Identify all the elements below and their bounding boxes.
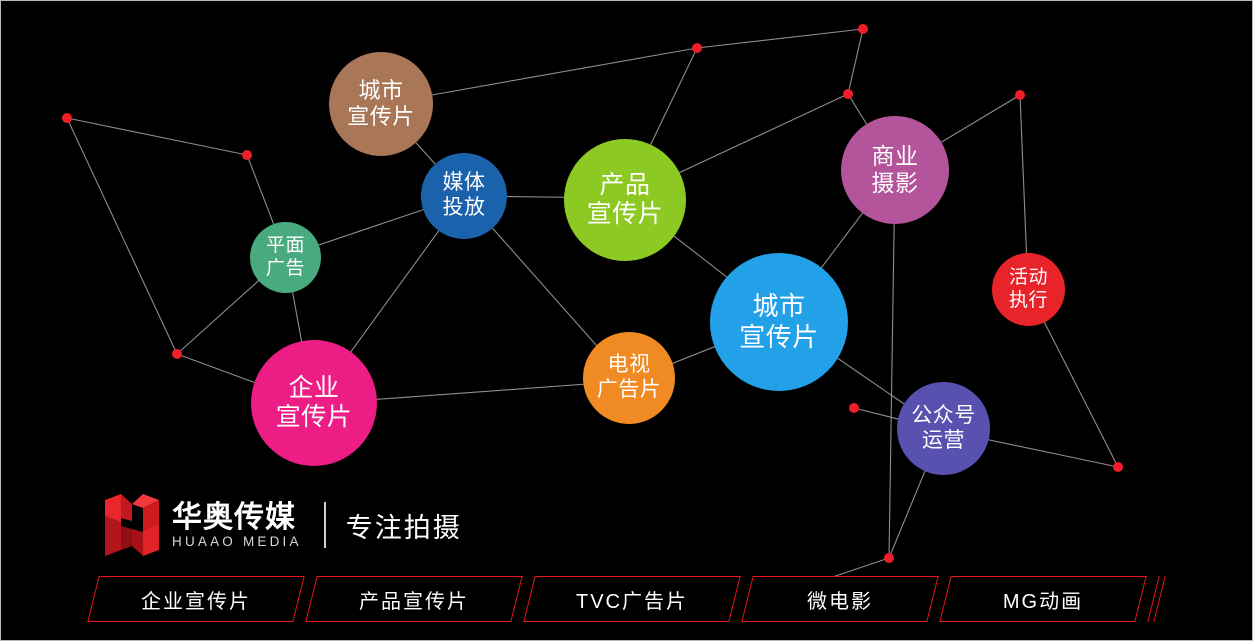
bubble-commercial-photo[interactable]: 商业摄影 xyxy=(841,116,949,224)
bubble-label-line: 宣传片 xyxy=(739,322,819,353)
tab-tvc[interactable]: TVC广告片 xyxy=(529,576,735,622)
bubble-label-line: 活动 xyxy=(1009,267,1048,289)
tab-label: 企业宣传片 xyxy=(115,585,277,614)
category-tab-strip: 企业宣传片产品宣传片TVC广告片微电影MG动画 xyxy=(1,569,1253,629)
brand-tagline: 专注拍摄 xyxy=(346,506,462,545)
bubble-label-line: 执行 xyxy=(1009,290,1048,312)
bubble-label-line: 广告 xyxy=(266,258,305,280)
node-upper-mid xyxy=(242,150,252,160)
bubble-label-line: 电视 xyxy=(608,353,651,378)
brand-name-en: HUAAO MEDIA xyxy=(172,535,302,549)
tab-label: TVC广告片 xyxy=(550,585,714,614)
bubble-label-line: 媒体 xyxy=(443,171,486,196)
tab-product-film[interactable]: 产品宣传片 xyxy=(311,576,517,622)
huaao-h-monogram-icon xyxy=(105,494,159,556)
bubble-label-line: 运营 xyxy=(922,429,965,454)
bubble-media-placement[interactable]: 媒体投放 xyxy=(421,153,507,239)
bubble-print-ad[interactable]: 平面广告 xyxy=(250,222,321,293)
bubble-label-line: 公众号 xyxy=(911,404,976,429)
node-top-right xyxy=(858,24,868,34)
bubble-tv-commercial[interactable]: 电视广告片 xyxy=(583,332,675,424)
bubble-label-line: 广告片 xyxy=(597,378,662,403)
slide-canvas: 城市宣传片媒体投放平面广告产品宣传片商业摄影活动执行城市宣传片电视广告片企业宣传… xyxy=(0,0,1253,641)
network-edge xyxy=(889,170,895,558)
bubble-city-film-blue[interactable]: 城市宣传片 xyxy=(710,253,848,391)
bubble-label-line: 宣传片 xyxy=(587,200,664,230)
network-edge xyxy=(67,118,247,155)
network-edge xyxy=(697,29,863,48)
bubble-label-line: 城市 xyxy=(358,78,403,104)
node-mid-right xyxy=(849,403,859,413)
node-right-lower xyxy=(1113,462,1123,472)
tab-separator-accent xyxy=(1147,576,1165,622)
node-far-right-top xyxy=(1015,90,1025,100)
bubble-label-line: 平面 xyxy=(266,235,305,257)
bubble-city-film-brown[interactable]: 城市宣传片 xyxy=(329,52,433,156)
tab-label: 产品宣传片 xyxy=(333,585,495,614)
node-top-center xyxy=(692,43,702,53)
bubble-label-line: 宣传片 xyxy=(347,104,415,130)
bubble-corporate-film[interactable]: 企业宣传片 xyxy=(251,340,377,466)
bubble-label-line: 城市 xyxy=(752,291,805,322)
tab-label: 微电影 xyxy=(781,585,899,614)
node-left-lower xyxy=(172,349,182,359)
node-left-top xyxy=(62,113,72,123)
node-right-upper xyxy=(843,89,853,99)
brand-name-cn: 华奥传媒 xyxy=(172,502,302,534)
logo-divider xyxy=(324,502,326,548)
bubble-label-line: 摄影 xyxy=(872,170,919,197)
network-edge xyxy=(67,118,177,354)
bubble-label-line: 商业 xyxy=(872,143,919,170)
tab-mg-animation[interactable]: MG动画 xyxy=(945,576,1141,622)
tab-micro-film[interactable]: 微电影 xyxy=(747,576,933,622)
bubble-product-film[interactable]: 产品宣传片 xyxy=(564,139,686,261)
bubble-label-line: 产品 xyxy=(599,171,650,201)
tab-corporate-film[interactable]: 企业宣传片 xyxy=(93,576,299,622)
bubble-label-line: 投放 xyxy=(443,196,486,221)
network-node-layer xyxy=(62,24,1123,563)
node-bottom-mid xyxy=(884,553,894,563)
brand-wordmark: 华奥传媒 HUAAO MEDIA xyxy=(172,502,302,549)
bubble-label-line: 宣传片 xyxy=(276,403,353,433)
tab-label: MG动画 xyxy=(977,585,1109,614)
brand-logo-lockup: 华奥传媒 HUAAO MEDIA 专注拍摄 xyxy=(105,493,462,557)
bubble-event-execution[interactable]: 活动执行 xyxy=(992,253,1065,326)
bubble-wechat-ops[interactable]: 公众号运营 xyxy=(897,382,990,475)
bubble-label-line: 企业 xyxy=(288,374,339,404)
network-edge xyxy=(848,29,863,94)
